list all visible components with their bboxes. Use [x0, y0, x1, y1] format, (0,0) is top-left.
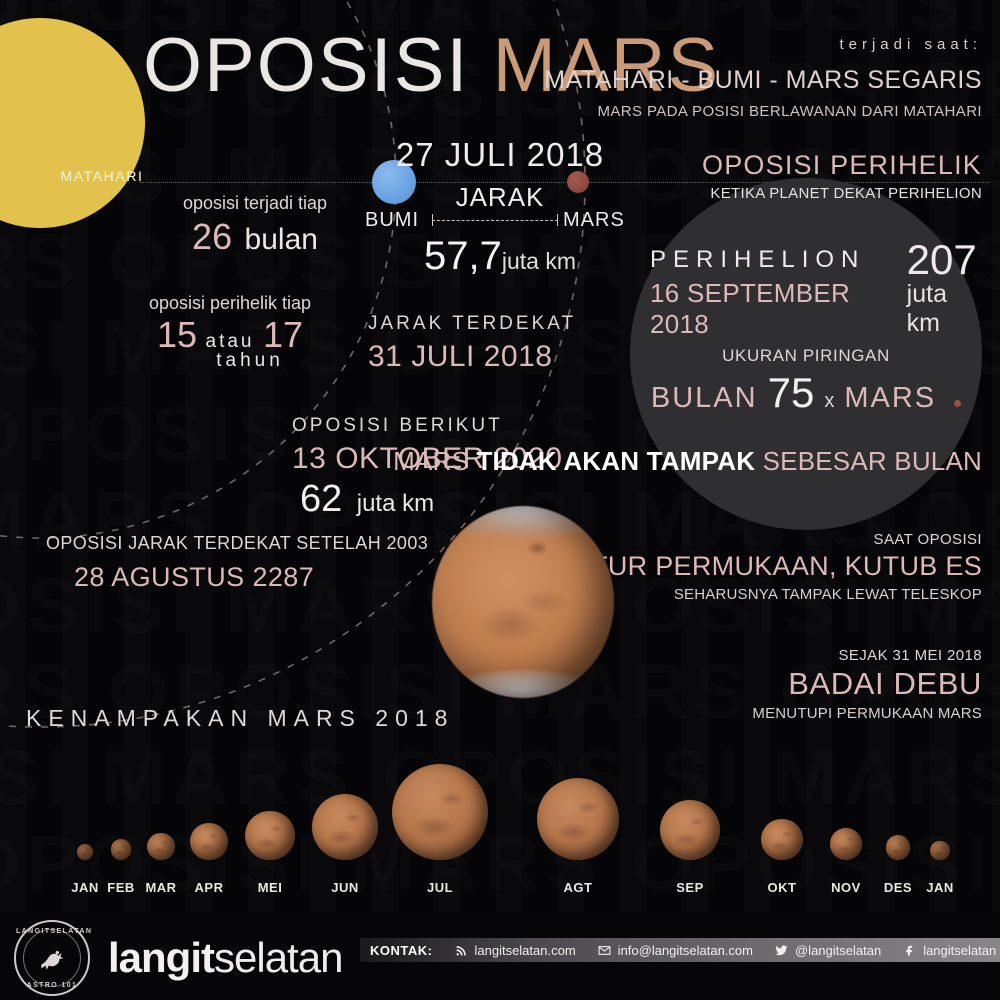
- mars-disk-mei-4: [245, 811, 295, 861]
- mars-word: MARS: [844, 382, 936, 415]
- month-label-nov-10: NOV: [821, 880, 871, 895]
- mars-disk-jan-12: [930, 841, 949, 860]
- perihelion-distance-value: 207: [907, 240, 980, 280]
- perihelion-block: PERIHELION 16 SEPTEMBER 2018 207 juta km: [650, 240, 980, 340]
- closest-approach-block: JARAK TERDEKAT 31 JULI 2018: [368, 313, 576, 374]
- mars-label: MARS: [563, 209, 625, 232]
- interval-value: 26: [192, 216, 232, 257]
- disk-size-block: UKURAN PIRINGAN BULAN 75 x MARS: [630, 346, 982, 417]
- distance-value: 57,7: [424, 234, 502, 278]
- disk-ratio-value: 75: [768, 369, 815, 417]
- mars-disk-jan-0: [77, 844, 94, 861]
- contact-bar: KONTAK: langitselatan.cominfo@langitsela…: [360, 938, 1000, 962]
- opposition-interval-block: oposisi terjadi tiap 26 bulan: [150, 193, 360, 258]
- logo-bottom-text: ASTRO 101: [16, 982, 88, 989]
- month-label-mar-2: MAR: [136, 880, 186, 895]
- month-label-jun-5: JUN: [320, 880, 370, 895]
- contact-item-3[interactable]: langitselatan: [903, 943, 996, 958]
- mars-photo: [432, 506, 614, 698]
- header-subline: MARS PADA POSISI BERLAWANAN DARI MATAHAR…: [597, 103, 982, 120]
- contact-text-0: langitselatan.com: [474, 943, 575, 958]
- langitselatan-logo: LANGITSELATAN ASTRO 101: [14, 920, 90, 996]
- rss-icon: [454, 943, 468, 957]
- month-label-agt-7: AGT: [553, 880, 603, 895]
- mars-size-chart: [0, 755, 1000, 875]
- mars-disk-des-11: [886, 835, 911, 860]
- month-label-apr-3: APR: [184, 880, 234, 895]
- month-label-jul-6: JUL: [415, 880, 465, 895]
- perihelion-word: PERIHELION: [650, 246, 893, 274]
- closest-date: 31 JULI 2018: [368, 340, 576, 374]
- mars-disk-nov-10: [830, 828, 862, 860]
- contact-text-3: langitselatan: [923, 943, 996, 958]
- perihelion-distance-unit: juta km: [907, 280, 980, 338]
- title-part-oposisi: OPOSISI: [143, 23, 470, 108]
- perihelic-value-1: 15: [157, 314, 197, 355]
- month-label-sep-8: SEP: [665, 880, 715, 895]
- mail-icon: [598, 943, 612, 957]
- twitter-icon: [775, 943, 789, 957]
- month-label-okt-9: OKT: [757, 880, 807, 895]
- month-label-jan-12: JAN: [915, 880, 965, 895]
- appearance-heading: KENAMPAKAN MARS 2018: [26, 705, 454, 732]
- month-label-mei-4: MEI: [245, 880, 295, 895]
- times-symbol: x: [824, 390, 834, 413]
- opposition-date: 27 JULI 2018: [0, 136, 1000, 174]
- logo-top-text: LANGITSELATAN: [16, 928, 88, 935]
- facebook-icon: [903, 943, 917, 957]
- header-eyebrow: terjadi saat:: [839, 36, 982, 53]
- mars-disk-agt-7: [537, 778, 620, 861]
- brand-selatan: selatan: [214, 934, 342, 981]
- next-distance-value: 62: [300, 478, 342, 520]
- mars-disk-apr-3: [190, 823, 227, 860]
- moon-word: BULAN: [651, 382, 758, 415]
- perihelic-value-2: 17: [263, 314, 303, 355]
- centaur-emblem-icon: [35, 941, 69, 975]
- perihelic-caption: oposisi perihelik tiap: [130, 293, 330, 314]
- brand-wordmark: langitselatan: [108, 934, 342, 982]
- mars-scale-dot-icon: [954, 400, 961, 407]
- header-headline: MATAHARI - BUMI - MARS SEGARIS: [544, 66, 982, 95]
- closest-caption: JARAK TERDEKAT: [368, 313, 576, 335]
- interval-unit: bulan: [245, 223, 318, 256]
- mars-disk-okt-9: [761, 819, 802, 860]
- brand-langit: langit: [108, 934, 214, 981]
- mars-disk-jun-5: [312, 794, 378, 860]
- mars-disk-mar-2: [147, 833, 175, 861]
- contact-text-2: @langitselatan: [795, 943, 881, 958]
- claim-part-c: SEBESAR BULAN: [763, 446, 982, 476]
- disk-size-caption: UKURAN PIRINGAN: [630, 346, 982, 366]
- next-distance-unit: juta km: [357, 490, 434, 517]
- mars-disk-jul-6: [392, 764, 488, 860]
- perihelion-date: 16 SEPTEMBER 2018: [650, 278, 893, 340]
- interval-caption: oposisi terjadi tiap: [150, 193, 360, 214]
- earth-label: BUMI: [365, 209, 419, 232]
- mars-disk-feb-1: [111, 839, 132, 860]
- perihelic-conjunction: atau: [206, 331, 255, 352]
- distance-unit: juta km: [502, 248, 576, 274]
- next-caption: OPOSISI BERIKUT: [292, 415, 562, 437]
- claim-part-b: TIDAK AKAN TAMPAK: [476, 446, 762, 476]
- infographic-poster: OPOSISI MARS OPOSISI MARS OPOSISI MARS O…: [0, 0, 1000, 1000]
- size-claim: MARS TIDAK AKAN TAMPAK SEBESAR BULAN: [0, 446, 982, 477]
- contact-item-2[interactable]: @langitselatan: [775, 943, 881, 958]
- kontak-label: KONTAK:: [370, 943, 432, 958]
- claim-part-a: MARS: [393, 446, 476, 476]
- contact-item-0[interactable]: langitselatan.com: [454, 943, 575, 958]
- distance-measure-bar: [432, 214, 558, 226]
- mars-disk-sep-8: [660, 800, 721, 861]
- perihelic-interval-block: oposisi perihelik tiap 15 atau 17 tahun: [130, 293, 330, 372]
- contact-text-1: info@langitselatan.com: [618, 943, 753, 958]
- contact-item-1[interactable]: info@langitselatan.com: [598, 943, 753, 958]
